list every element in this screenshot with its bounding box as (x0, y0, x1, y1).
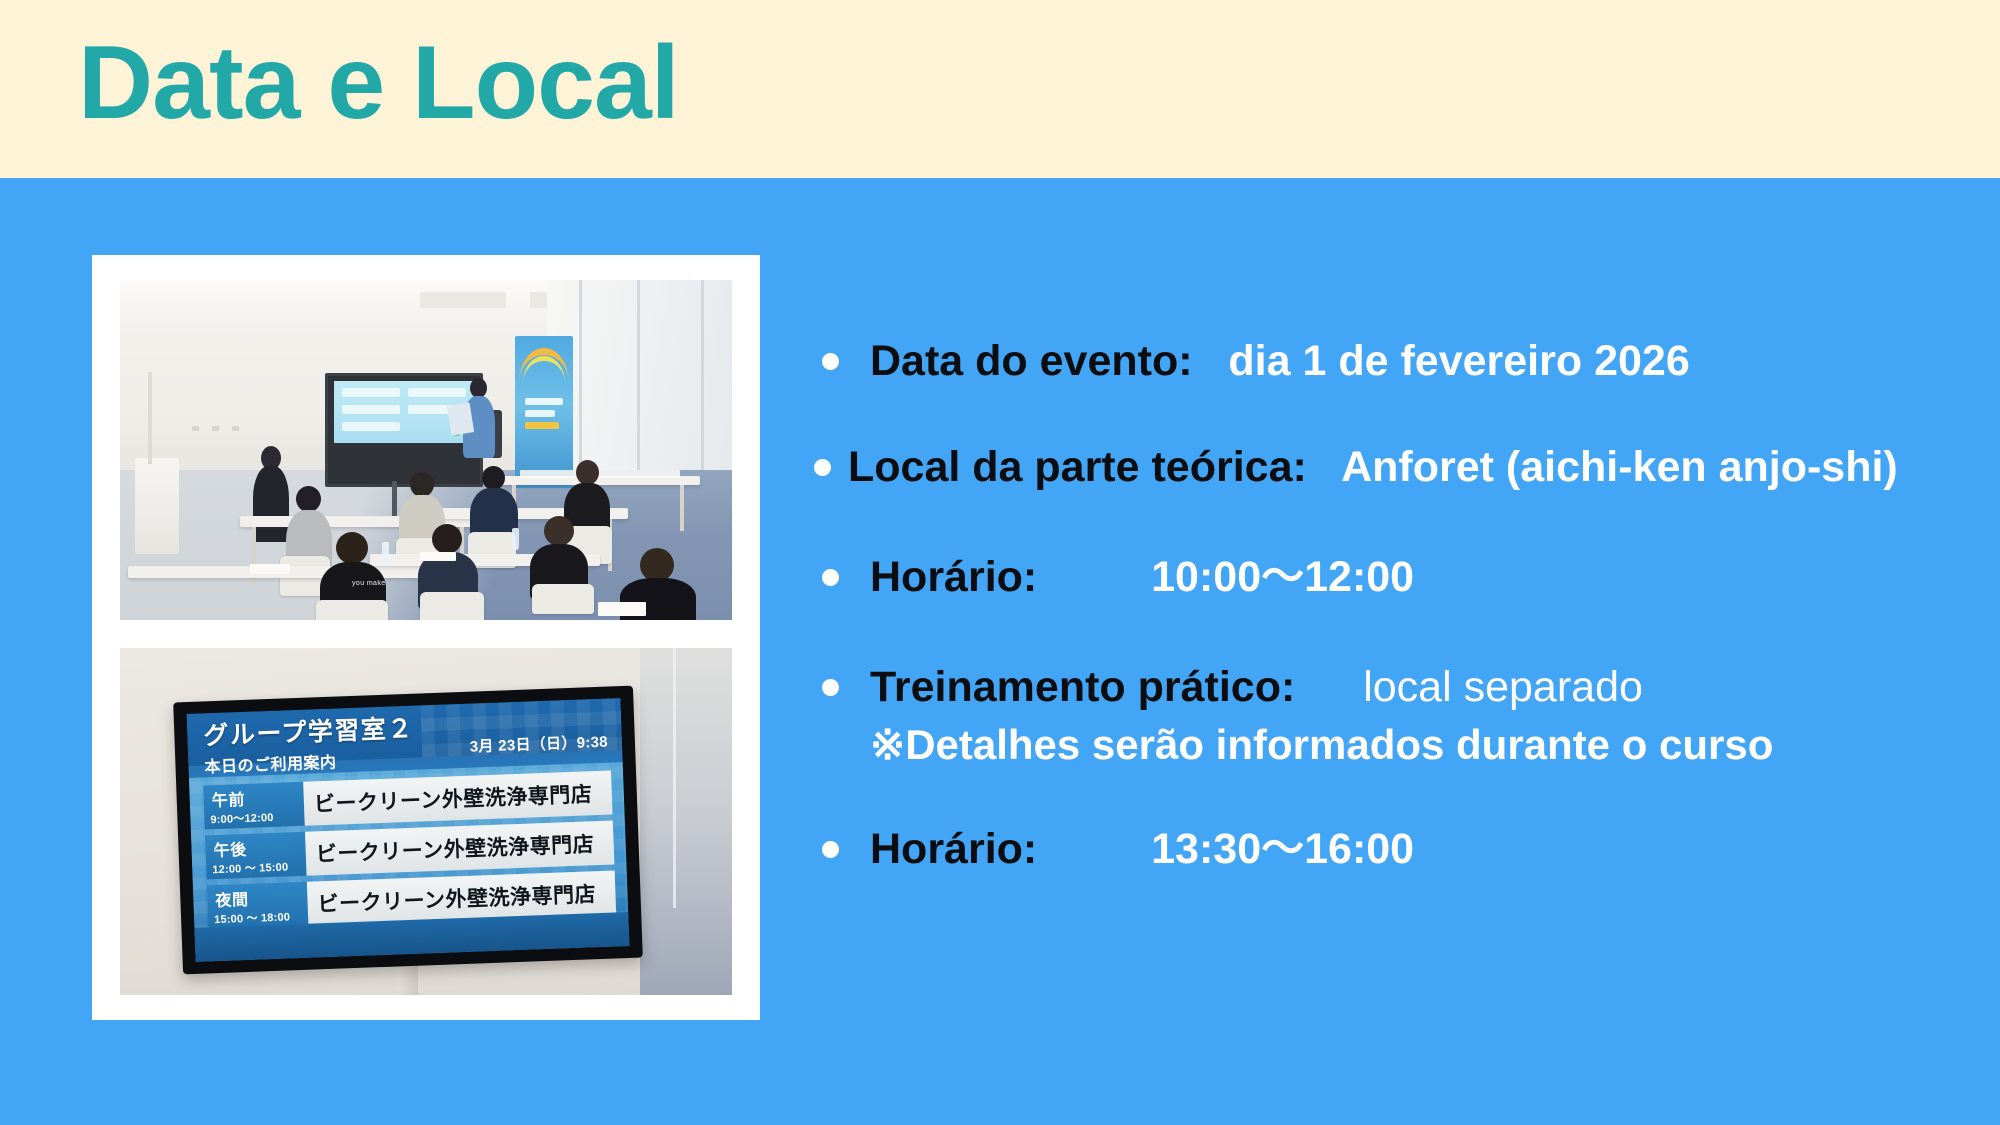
bullet-dot-icon (814, 459, 831, 476)
signage-tenant-name: ビークリーン外壁洗浄専門店 (317, 878, 596, 918)
banner-text-line (525, 398, 563, 405)
signage-datetime: 3月 23日（日）9:38 (469, 731, 608, 757)
bullet-value: Anforet (aichi-ken anjo-shi) (1341, 443, 1898, 491)
jacket-logo: you make (352, 580, 386, 587)
signage-slot-name: 午後 (213, 836, 247, 861)
signage-kiosk-photo: グループ学習室２ 本日のご利用案内 3月 23日（日）9:38 午前 9:00〜… (120, 648, 732, 995)
wall-hook (212, 426, 219, 431)
participant-head (410, 472, 434, 497)
bullet-line: Treinamento prático: local separado (870, 656, 1978, 718)
seminar-room-scene: you make (120, 280, 732, 620)
corridor (640, 648, 732, 995)
wall-hook (192, 426, 199, 431)
bullet-item-theory-location: Local da parte teórica: Anforet (aichi-k… (808, 436, 1978, 498)
banner-text-line (525, 422, 559, 429)
participant-head (482, 466, 505, 490)
bullet-item-event-date: Data do evento: dia 1 de fevereiro 2026 (808, 330, 1978, 392)
water-bottle (512, 528, 519, 550)
signage-header: グループ学習室２ 本日のご利用案内 3月 23日（日）9:38 (187, 698, 623, 766)
chair (316, 600, 388, 620)
bullet-dot-icon (822, 841, 839, 858)
bullet-item-practical-time: Horário: 13:30〜16:00 (808, 818, 1978, 880)
bullet-label: Local da parte teórica: (848, 443, 1307, 491)
signage-slot-time: 9:00〜12:00 (210, 809, 274, 827)
kiosk-scene: グループ学習室２ 本日のご利用案内 3月 23日（日）9:38 午前 9:00〜… (120, 648, 732, 995)
slide-text-line (342, 405, 400, 414)
participant-head (544, 516, 574, 546)
slide-root: Data e Local (0, 0, 2000, 1125)
corridor-mullion (673, 648, 676, 908)
presenter-body (253, 466, 289, 542)
signage-slot-time: 12:00 ～ 15:00 (212, 858, 289, 877)
signage-room-name: グループ学習室２ (203, 709, 415, 753)
chair (420, 592, 484, 620)
seminar-room-photo: you make (120, 280, 732, 620)
signage-slot-cell: 夜間 15:00 ～ 18:00 (207, 882, 309, 930)
bullet-item-practical-training: Treinamento prático: local separado ※Det… (808, 656, 1978, 774)
bullet-line: Horário: 10:00〜12:00 (870, 546, 1978, 608)
display-items (520, 470, 680, 478)
bullet-dot-icon (822, 569, 839, 586)
chair (532, 584, 594, 614)
participant-head (640, 548, 674, 582)
bullet-label: Data do evento: (870, 337, 1193, 385)
bullet-dot-icon (822, 353, 839, 370)
photo-card: you make (92, 255, 760, 1020)
handout (598, 602, 646, 616)
signage-schedule-table: 午前 9:00〜12:00 ビークリーン外壁洗浄専門店 午後 (189, 762, 629, 962)
signage-screen: グループ学習室２ 本日のご利用案内 3月 23日（日）9:38 午前 9:00〜… (187, 698, 630, 962)
bullet-line: Data do evento: dia 1 de fevereiro 2026 (870, 330, 1978, 392)
bullet-item-theory-time: Horário: 10:00〜12:00 (808, 546, 1978, 608)
bullet-value: 13:30〜16:00 (1151, 825, 1414, 873)
page-title: Data e Local (78, 8, 679, 158)
participant-head (336, 532, 368, 564)
bullet-list: Data do evento: dia 1 de fevereiro 2026 … (808, 330, 1978, 880)
signage-slot-cell: 午前 9:00〜12:00 (203, 782, 305, 830)
event-banner (515, 336, 573, 488)
signage-row: 午前 9:00〜12:00 ビークリーン外壁洗浄専門店 (203, 771, 612, 830)
signage-slot-name: 午前 (211, 786, 245, 811)
signage-slot-name: 夜間 (215, 886, 249, 911)
participant-head (576, 460, 599, 485)
bullet-value: 10:00〜12:00 (1151, 553, 1414, 601)
slide-text-line (342, 388, 400, 397)
presenter-head (470, 378, 487, 398)
bullet-note: ※Detalhes serão informados durante o cur… (870, 716, 1978, 774)
bullet-line: Local da parte teórica: Anforet (aichi-k… (848, 436, 1978, 498)
participant-head (432, 524, 462, 554)
handout (420, 552, 456, 561)
signage-tenant-cell: ビークリーン外壁洗浄専門店 (305, 820, 614, 875)
equipment-cart (135, 458, 179, 554)
bullet-label: Treinamento prático: (870, 663, 1295, 711)
cart-pole (148, 372, 152, 464)
signage-tenant-name: ビークリーン外壁洗浄専門店 (313, 778, 592, 818)
handout (250, 564, 290, 574)
banner-text-line (525, 410, 555, 417)
bullet-value: local separado (1363, 663, 1643, 711)
slide-text-line (408, 388, 466, 397)
wall-hook (232, 426, 239, 431)
signage-bezel: グループ学習室２ 本日のご利用案内 3月 23日（日）9:38 午前 9:00〜… (173, 686, 643, 975)
signage-tenant-name: ビークリーン外壁洗浄専門店 (315, 828, 594, 868)
handout (447, 402, 474, 435)
water-bottle (382, 542, 389, 564)
bullet-label: Horário: (870, 553, 1037, 601)
signage-tenant-cell: ビークリーン外壁洗浄専門店 (303, 771, 612, 826)
bullet-dot-icon (822, 679, 839, 696)
table-leg (680, 485, 684, 531)
signage-row: 午後 12:00 ～ 15:00 ビークリーン外壁洗浄専門店 (205, 820, 614, 879)
bullet-label: Horário: (870, 825, 1037, 873)
slide-text-line (342, 422, 400, 431)
bullet-value: dia 1 de fevereiro 2026 (1228, 337, 1689, 385)
bullet-line: Horário: 13:30〜16:00 (870, 818, 1978, 880)
signage-slot-cell: 午後 12:00 ～ 15:00 (205, 832, 307, 880)
ceiling-panel (420, 292, 506, 308)
participant-head (296, 486, 321, 512)
